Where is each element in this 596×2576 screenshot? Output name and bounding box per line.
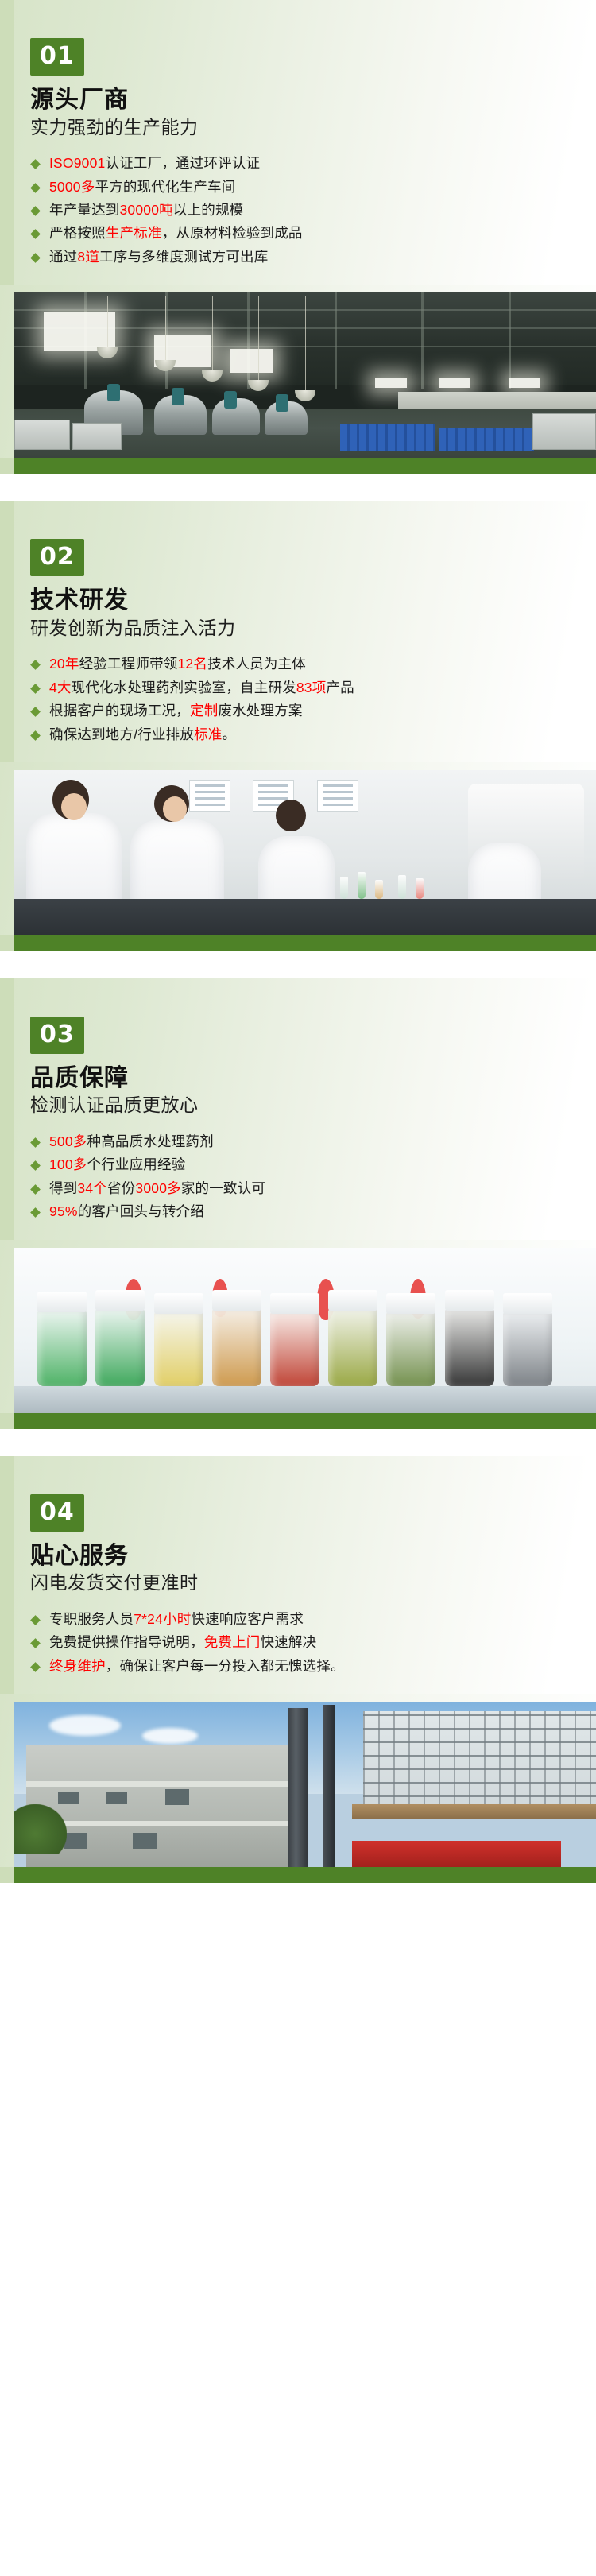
highlight-text: 终身维护	[49, 1658, 106, 1674]
forklift-warehouse-photo	[14, 1702, 596, 1867]
bullet-text: 专职服务人员	[49, 1611, 134, 1627]
highlight-text: 12名	[177, 656, 207, 672]
bullet-text: 技术人员为主体	[207, 656, 306, 672]
highlight-text: 5000多	[49, 179, 95, 195]
highlight-text: 4大	[49, 680, 72, 695]
section-03-number-badge: 03	[30, 1017, 84, 1054]
section-03-footer-bar	[0, 1413, 596, 1429]
bullet-text: 以上的规模	[173, 202, 244, 218]
section-02-number-badge: 02	[30, 539, 84, 576]
section-04-number-badge: 04	[30, 1494, 84, 1532]
highlight-text: 生产标准	[106, 225, 162, 241]
product-detail-page: 01 源头厂商 实力强劲的生产能力 ISO9001认证工厂，通过环评认证5000…	[0, 0, 596, 1883]
diamond-bullet-icon	[30, 206, 41, 216]
highlight-text: 500多	[49, 1133, 87, 1149]
bullet-text: 快速响应客户需求	[191, 1611, 304, 1627]
section-01-photo-wrap	[0, 285, 596, 458]
section-03-photo-wrap	[0, 1240, 596, 1413]
diamond-bullet-icon	[30, 1207, 41, 1218]
diamond-bullet-icon	[30, 253, 41, 263]
bullet-item: 免费提供操作指导说明，免费上门快速解决	[30, 1631, 575, 1654]
bullet-item: 5000多平方的现代化生产车间	[30, 176, 575, 199]
section-02: 02 技术研发 研发创新为品质注入活力 20年经验工程师带领12名技术人员为主体…	[0, 501, 596, 951]
diamond-bullet-icon	[30, 684, 41, 694]
highlight-text: 95%	[49, 1203, 78, 1219]
section-04-subtitle: 闪电发货交付更准时	[30, 1572, 575, 1594]
bullet-text: 工序与多维度测试方可出库	[99, 249, 268, 265]
highlight-text: 免费上门	[204, 1634, 261, 1650]
highlight-text: ISO9001	[49, 155, 105, 171]
section-03-subtitle: 检测认证品质更放心	[30, 1094, 575, 1117]
bullet-item: 根据客户的现场工况，定制废水处理方案	[30, 699, 575, 722]
bullet-text: 的客户回头与转介绍	[78, 1203, 204, 1219]
bullet-item: 500多种高品质水处理药剂	[30, 1130, 575, 1153]
highlight-text: 定制	[190, 703, 218, 719]
bullet-text: 严格按照	[49, 225, 106, 241]
bullet-item: 100多个行业应用经验	[30, 1153, 575, 1176]
diamond-bullet-icon	[30, 1184, 41, 1195]
bullet-item: 专职服务人员7*24小时快速响应客户需求	[30, 1608, 575, 1631]
bullet-text: 通过	[49, 249, 77, 265]
bullet-text: 经验工程师带领	[79, 656, 178, 672]
bullet-item: 通过8道工序与多维度测试方可出库	[30, 246, 575, 269]
diamond-bullet-icon	[30, 183, 41, 193]
section-04-photo-wrap	[0, 1694, 596, 1867]
highlight-text: 100多	[49, 1156, 87, 1172]
diamond-bullet-icon	[30, 1137, 41, 1148]
section-02-body: 02 技术研发 研发创新为品质注入活力 20年经验工程师带领12名技术人员为主体…	[0, 501, 596, 951]
diamond-bullet-icon	[30, 159, 41, 169]
section-01-number-badge: 01	[30, 38, 84, 76]
diamond-bullet-icon	[30, 1615, 41, 1625]
bullet-text: 省份	[107, 1180, 135, 1196]
bullet-text: 产品	[326, 680, 354, 695]
bullet-text: 年产量达到	[49, 202, 120, 218]
highlight-text: 标准	[194, 726, 222, 742]
bullet-text: 个行业应用经验	[87, 1156, 186, 1172]
section-02-footer-bar	[0, 935, 596, 951]
bullet-item: 严格按照生产标准，从原材料检验到成品	[30, 222, 575, 245]
section-03-body: 03 品质保障 检测认证品质更放心 500多种高品质水处理药剂100多个行业应用…	[0, 978, 596, 1429]
highlight-text: 8道	[77, 249, 99, 265]
bullet-text: 快速解决	[261, 1634, 317, 1650]
section-03-title: 品质保障	[30, 1065, 575, 1092]
bullet-item: 确保达到地方/行业排放标准。	[30, 723, 575, 746]
bullet-text: 现代化水处理药剂实验室，自主研发	[72, 680, 296, 695]
bullet-item: 4大现代化水处理药剂实验室，自主研发83项产品	[30, 676, 575, 699]
section-02-subtitle: 研发创新为品质注入活力	[30, 618, 575, 640]
bullet-item: 95%的客户回头与转介绍	[30, 1200, 575, 1223]
section-02-photo-wrap	[0, 762, 596, 935]
chemical-bottles-photo	[14, 1248, 596, 1413]
bullet-item: 得到34个省份3000多家的一致认可	[30, 1177, 575, 1200]
section-02-bullet-list: 20年经验工程师带领12名技术人员为主体4大现代化水处理药剂实验室，自主研发83…	[30, 653, 575, 762]
highlight-text: 20年	[49, 656, 79, 672]
bullet-item: 20年经验工程师带领12名技术人员为主体	[30, 653, 575, 676]
section-03: 03 品质保障 检测认证品质更放心 500多种高品质水处理药剂100多个行业应用…	[0, 978, 596, 1429]
gap-02-03	[0, 951, 596, 978]
bullet-item: 终身维护，确保让客户每一分投入都无愧选择。	[30, 1655, 575, 1678]
bullet-text: 确保达到地方/行业排放	[49, 726, 194, 742]
section-03-bullet-list: 500多种高品质水处理药剂100多个行业应用经验得到34个省份3000多家的一致…	[30, 1130, 575, 1240]
gap-03-04	[0, 1429, 596, 1456]
bullet-item: ISO9001认证工厂，通过环评认证	[30, 152, 575, 175]
diamond-bullet-icon	[30, 1638, 41, 1648]
bullet-text: 认证工厂，通过环评认证	[105, 155, 260, 171]
bullet-text: 根据客户的现场工况，	[49, 703, 190, 719]
highlight-text: 83项	[296, 680, 327, 695]
bullet-text: 得到	[49, 1180, 77, 1196]
bullet-text: 平方的现代化生产车间	[95, 179, 235, 195]
highlight-text: 7*24小时	[134, 1611, 191, 1627]
section-01-subtitle: 实力强劲的生产能力	[30, 117, 575, 139]
section-04: 04 贴心服务 闪电发货交付更准时 专职服务人员7*24小时快速响应客户需求免费…	[0, 1456, 596, 1883]
highlight-text: 34个	[77, 1180, 107, 1196]
diamond-bullet-icon	[30, 660, 41, 670]
diamond-bullet-icon	[30, 1161, 41, 1172]
bullet-text: 废水处理方案	[218, 703, 302, 719]
bullet-text: 家的一致认可	[181, 1180, 265, 1196]
diamond-bullet-icon	[30, 730, 41, 741]
section-02-title: 技术研发	[30, 587, 575, 614]
diamond-bullet-icon	[30, 229, 41, 239]
gap-01-02	[0, 474, 596, 501]
lab-technicians-photo	[14, 770, 596, 935]
section-01-footer-bar	[0, 458, 596, 474]
section-01-title: 源头厂商	[30, 87, 575, 114]
bullet-text: ，从原材料检验到成品	[162, 225, 303, 241]
section-04-title: 贴心服务	[30, 1543, 575, 1570]
section-01: 01 源头厂商 实力强劲的生产能力 ISO9001认证工厂，通过环评认证5000…	[0, 0, 596, 474]
section-01-bullet-list: ISO9001认证工厂，通过环评认证5000多平方的现代化生产车间年产量达到30…	[30, 152, 575, 285]
bullet-text: 种高品质水处理药剂	[87, 1133, 214, 1149]
bullet-text: 。	[222, 726, 236, 742]
highlight-text: 3000多	[135, 1180, 180, 1196]
bullet-text: ，确保让客户每一分投入都无愧选择。	[106, 1658, 345, 1674]
section-04-bullet-list: 专职服务人员7*24小时快速响应客户需求免费提供操作指导说明，免费上门快速解决终…	[30, 1608, 575, 1694]
section-01-body: 01 源头厂商 实力强劲的生产能力 ISO9001认证工厂，通过环评认证5000…	[0, 0, 596, 474]
highlight-text: 30000吨	[120, 202, 173, 218]
section-04-body: 04 贴心服务 闪电发货交付更准时 专职服务人员7*24小时快速响应客户需求免费…	[0, 1456, 596, 1883]
bullet-text: 免费提供操作指导说明，	[49, 1634, 204, 1650]
factory-interior-photo	[14, 292, 596, 458]
diamond-bullet-icon	[30, 707, 41, 717]
section-04-footer-bar	[0, 1867, 596, 1883]
bullet-item: 年产量达到30000吨以上的规模	[30, 199, 575, 222]
diamond-bullet-icon	[30, 1662, 41, 1672]
